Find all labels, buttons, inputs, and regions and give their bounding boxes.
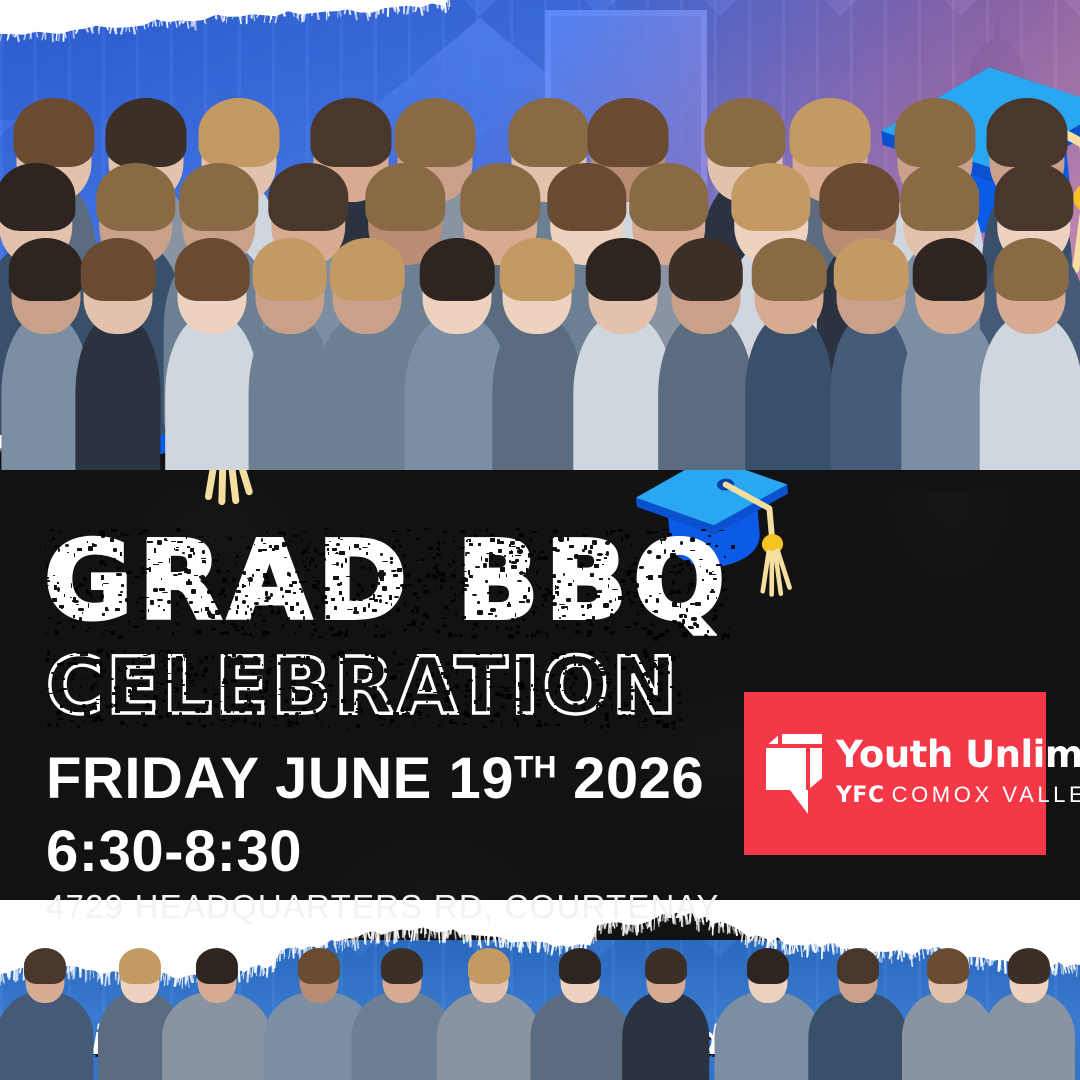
photo-scene-bottom (0, 940, 1080, 1080)
figure-hair (820, 163, 899, 231)
figure-hair (752, 238, 827, 301)
figure-hair (81, 238, 156, 301)
figure-body (983, 992, 1075, 1080)
youth-unlimited-logo: Youth UnlimitedTM YFCCOMOX VALLEY (744, 692, 1046, 855)
person-figure (0, 950, 94, 1080)
figure-hair (175, 238, 250, 301)
person-figure (979, 240, 1080, 470)
figure-hair (9, 238, 84, 301)
figure-hair (311, 98, 392, 167)
figure-hair (420, 238, 495, 301)
figure-hair (731, 163, 810, 231)
person-figure (436, 950, 542, 1080)
figure-body (622, 992, 710, 1080)
figure-hair (994, 163, 1073, 231)
poster-subtitle: CELEBRATION (46, 648, 680, 726)
figure-hair (1008, 948, 1050, 984)
figure-body (0, 992, 93, 1080)
figure-hair (900, 163, 979, 231)
logo-subtitle: YFCCOMOX VALLEY (836, 784, 1080, 807)
figure-body (902, 992, 994, 1080)
figure-hair (836, 948, 878, 984)
figure-hair (500, 238, 575, 301)
crowd-figures-bottom (0, 940, 1080, 1080)
person-figure (621, 950, 710, 1080)
figure-body (658, 315, 754, 470)
figure-hair (381, 948, 423, 984)
speech-bubble-icon (764, 732, 824, 816)
group-photo-bottom (0, 940, 1080, 1080)
figure-hair (547, 163, 626, 231)
person-figure (744, 240, 834, 470)
event-time: 6:30-8:30 (46, 818, 302, 885)
figure-hair (24, 948, 66, 984)
figure-hair (994, 238, 1069, 301)
figure-hair (118, 948, 160, 984)
figure-hair (468, 948, 510, 984)
person-figure (982, 950, 1076, 1080)
person-figure (161, 950, 273, 1080)
figure-body (715, 992, 822, 1080)
logo-name: Youth UnlimitedTM (836, 736, 1080, 773)
grunge-speckle (44, 528, 731, 636)
person-figure (529, 950, 630, 1080)
figure-hair (559, 948, 601, 984)
event-poster: GRAD BBQ CELEBRATION FRIDAY JUNE 19TH 20… (0, 0, 1080, 1080)
figure-hair (894, 98, 975, 167)
date-ordinal: TH (514, 749, 557, 785)
figure-body (530, 992, 629, 1080)
figure-hair (330, 238, 405, 301)
figure-body (162, 992, 272, 1080)
figure-hair (13, 98, 94, 167)
person-figure (75, 240, 162, 470)
figure-hair (269, 163, 348, 231)
poster-title: GRAD BBQ (44, 528, 731, 636)
figure-hair (704, 98, 785, 167)
figure-hair (834, 238, 909, 301)
figure-body (808, 992, 907, 1080)
figure-hair (668, 238, 743, 301)
date-year: 2026 (557, 746, 705, 811)
figure-body (437, 992, 541, 1080)
figure-hair (198, 98, 279, 167)
figure-hair (0, 163, 76, 231)
figure-hair (747, 948, 789, 984)
figure-hair (195, 948, 237, 984)
logo-name-text: Youth Unlimited (836, 733, 1080, 776)
event-date: FRIDAY JUNE 19TH 2026 (46, 745, 704, 812)
figure-body (493, 315, 582, 470)
figure-body (165, 315, 259, 470)
figure-hair (629, 163, 708, 231)
person-figure (807, 950, 908, 1080)
grunge-speckle (46, 648, 680, 726)
date-prefix: FRIDAY JUNE 19 (46, 746, 514, 811)
event-address: 4729 HEADQUARTERS RD, COURTENAY (46, 888, 720, 926)
figure-hair (298, 948, 340, 984)
figure-hair (927, 948, 969, 984)
figure-hair (508, 98, 589, 167)
figure-hair (986, 98, 1067, 167)
figure-hair (394, 98, 475, 167)
figure-body (980, 315, 1080, 470)
figure-hair (179, 163, 258, 231)
figure-hair (586, 238, 661, 301)
figure-hair (461, 163, 540, 231)
logo-wordmark: Youth UnlimitedTM YFCCOMOX VALLEY (836, 736, 1080, 807)
figure-body (76, 315, 161, 470)
figure-hair (588, 98, 669, 167)
figure-hair (105, 98, 186, 167)
logo-city: COMOX VALLEY (892, 782, 1080, 807)
figure-hair (912, 238, 987, 301)
figure-body (745, 315, 833, 470)
person-figure (492, 240, 583, 470)
person-figure (164, 240, 260, 470)
figure-hair (366, 163, 445, 231)
figure-hair (789, 98, 870, 167)
logo-yfc: YFC (836, 783, 885, 808)
person-figure (657, 240, 755, 470)
figure-hair (645, 948, 687, 984)
